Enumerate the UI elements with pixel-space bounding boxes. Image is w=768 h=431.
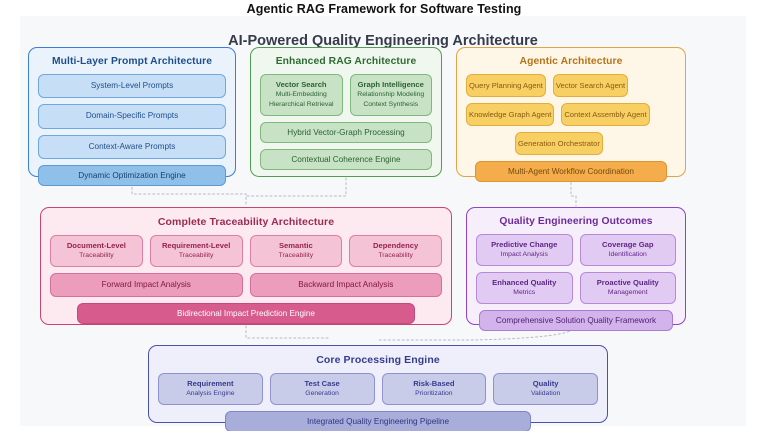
card-sub: Validation: [496, 390, 595, 399]
band-multi-agent-workflow-coordination[interactable]: Multi-Agent Workflow Coordination: [475, 161, 667, 182]
card-sub-2: Context Synthesis: [353, 101, 430, 110]
card-coverage-gap-identification[interactable]: Coverage Gap Identification: [580, 234, 677, 266]
agentic-row-1: Query Planning Agent Vector Search Agent: [457, 74, 685, 97]
card-title: Quality: [496, 379, 595, 388]
panel-quality-engineering-outcomes[interactable]: Quality Engineering Outcomes Predictive …: [466, 207, 686, 325]
card-title: Graph Intelligence: [353, 80, 430, 89]
card-title: Enhanced Quality: [479, 278, 570, 287]
card-requirement-analysis-engine[interactable]: Requirement Analysis Engine: [158, 373, 263, 405]
chip-generation-orchestrator[interactable]: Generation Orchestrator: [515, 132, 603, 155]
diagram-root: Agentic RAG Framework for Software Testi…: [0, 0, 768, 431]
chip-knowledge-graph-agent[interactable]: Knowledge Graph Agent: [466, 103, 554, 126]
card-proactive-quality-management[interactable]: Proactive Quality Management: [580, 272, 677, 304]
chip-query-planning-agent[interactable]: Query Planning Agent: [466, 74, 546, 97]
chip-vector-search-agent[interactable]: Vector Search Agent: [553, 74, 628, 97]
card-title: Document-Level: [53, 241, 140, 250]
panel-title-agentic: Agentic Architecture: [457, 56, 685, 67]
card-risk-based-prioritization[interactable]: Risk-Based Prioritization: [382, 373, 487, 405]
card-sub: Management: [583, 289, 674, 298]
panel-complete-traceability-architecture[interactable]: Complete Traceability Architecture Docum…: [40, 207, 452, 325]
card-sub: Prioritization: [385, 390, 484, 399]
card-sub-1: Multi-Embedding: [263, 91, 340, 100]
document-title: Agentic RAG Framework for Software Testi…: [0, 2, 768, 16]
card-sub: Generation: [273, 390, 372, 399]
card-label: System-Level Prompts: [41, 81, 223, 91]
card-label: Context-Aware Prompts: [41, 142, 223, 152]
card-sub-2: Hierarchical Retrieval: [263, 101, 340, 110]
card-sub: Identification: [583, 251, 674, 260]
outcomes-row-2: Enhanced Quality Metrics Proactive Quali…: [467, 272, 685, 304]
card-title: Risk-Based: [385, 379, 484, 388]
prompt-row-1: System-Level Prompts: [29, 74, 235, 98]
panel-title-core: Core Processing Engine: [149, 354, 607, 366]
card-label: Backward Impact Analysis: [253, 280, 440, 290]
card-title: Coverage Gap: [583, 240, 674, 249]
card-sub: Metrics: [479, 289, 570, 298]
card-label: Forward Impact Analysis: [53, 280, 240, 290]
card-graph-intelligence[interactable]: Graph Intelligence Relationship Modeling…: [350, 74, 433, 116]
card-sub: Traceability: [253, 252, 340, 261]
panel-core-processing-engine[interactable]: Core Processing Engine Requirement Analy…: [148, 345, 608, 423]
card-title: Vector Search: [263, 80, 340, 89]
panel-title-traceability: Complete Traceability Architecture: [41, 216, 451, 228]
card-title: Proactive Quality: [583, 278, 674, 287]
panel-title-outcomes: Quality Engineering Outcomes: [467, 216, 685, 227]
card-sub: Traceability: [352, 252, 439, 261]
card-predictive-change-impact-analysis[interactable]: Predictive Change Impact Analysis: [476, 234, 573, 266]
agentic-row-2: Knowledge Graph Agent Context Assembly A…: [457, 103, 685, 126]
card-quality-validation[interactable]: Quality Validation: [493, 373, 598, 405]
card-context-aware-prompts[interactable]: Context-Aware Prompts: [38, 135, 226, 159]
panel-multi-layer-prompt-architecture[interactable]: Multi-Layer Prompt Architecture System-L…: [28, 47, 236, 177]
panel-enhanced-rag-architecture[interactable]: Enhanced RAG Architecture Vector Search …: [250, 47, 442, 177]
panel-title-prompt: Multi-Layer Prompt Architecture: [29, 56, 235, 67]
card-document-level-traceability[interactable]: Document-Level Traceability: [50, 235, 143, 267]
agentic-row-3: Generation Orchestrator: [457, 132, 685, 155]
card-title: Requirement: [161, 379, 260, 388]
band-bidirectional-impact-prediction-engine[interactable]: Bidirectional Impact Prediction Engine: [77, 303, 415, 324]
card-system-level-prompts[interactable]: System-Level Prompts: [38, 74, 226, 98]
card-test-case-generation[interactable]: Test Case Generation: [270, 373, 375, 405]
card-dependency-traceability[interactable]: Dependency Traceability: [349, 235, 442, 267]
traceability-card-row: Document-Level Traceability Requirement-…: [41, 235, 451, 267]
card-semantic-traceability[interactable]: Semantic Traceability: [250, 235, 343, 267]
card-vector-search[interactable]: Vector Search Multi-Embedding Hierarchic…: [260, 74, 343, 116]
prompt-row-3: Context-Aware Prompts: [29, 135, 235, 159]
band-hybrid-vector-graph-processing[interactable]: Hybrid Vector-Graph Processing: [260, 122, 432, 143]
card-requirement-level-traceability[interactable]: Requirement-Level Traceability: [150, 235, 243, 267]
panel-title-rag: Enhanced RAG Architecture: [251, 56, 441, 67]
card-backward-impact-analysis[interactable]: Backward Impact Analysis: [250, 273, 443, 297]
card-title: Test Case: [273, 379, 372, 388]
card-title: Requirement-Level: [153, 241, 240, 250]
card-sub: Traceability: [153, 252, 240, 261]
card-title: Dependency: [352, 241, 439, 250]
card-enhanced-quality-metrics[interactable]: Enhanced Quality Metrics: [476, 272, 573, 304]
card-sub: Analysis Engine: [161, 390, 260, 399]
card-title: Predictive Change: [479, 240, 570, 249]
traceability-analysis-row: Forward Impact Analysis Backward Impact …: [41, 273, 451, 297]
core-card-row: Requirement Analysis Engine Test Case Ge…: [149, 373, 607, 405]
panel-agentic-architecture[interactable]: Agentic Architecture Query Planning Agen…: [456, 47, 686, 177]
card-sub: Impact Analysis: [479, 251, 570, 260]
band-comprehensive-solution-quality-framework[interactable]: Comprehensive Solution Quality Framework: [479, 310, 673, 331]
outcomes-row-1: Predictive Change Impact Analysis Covera…: [467, 234, 685, 266]
card-sub: Traceability: [53, 252, 140, 261]
card-label: Domain-Specific Prompts: [41, 111, 223, 121]
band-integrated-quality-engineering-pipeline[interactable]: Integrated Quality Engineering Pipeline: [225, 411, 531, 431]
band-dynamic-optimization-engine[interactable]: Dynamic Optimization Engine: [38, 165, 226, 186]
card-title: Semantic: [253, 241, 340, 250]
prompt-row-2: Domain-Specific Prompts: [29, 104, 235, 128]
card-domain-specific-prompts[interactable]: Domain-Specific Prompts: [38, 104, 226, 128]
card-sub-1: Relationship Modeling: [353, 91, 430, 100]
chip-context-assembly-agent[interactable]: Context Assembly Agent: [561, 103, 649, 126]
rag-card-row: Vector Search Multi-Embedding Hierarchic…: [251, 74, 441, 116]
card-forward-impact-analysis[interactable]: Forward Impact Analysis: [50, 273, 243, 297]
band-contextual-coherence-engine[interactable]: Contextual Coherence Engine: [260, 149, 432, 170]
